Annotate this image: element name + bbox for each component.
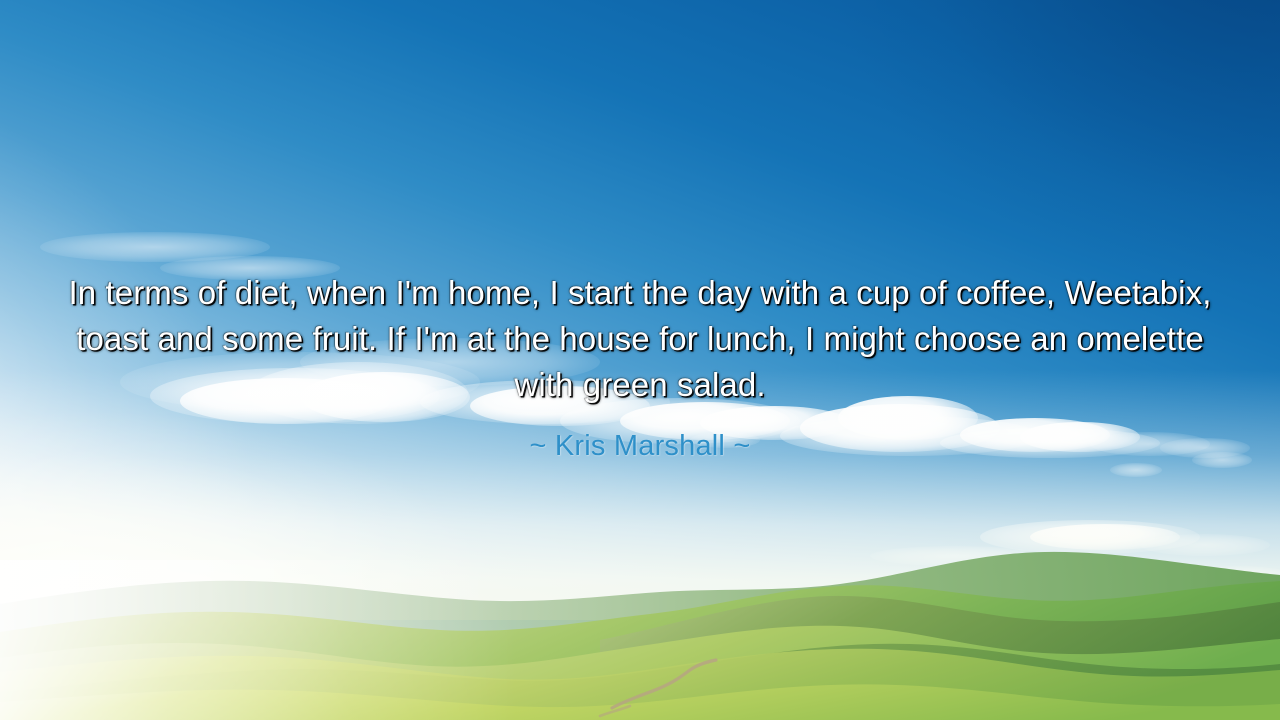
quote-author: ~ Kris Marshall ~ bbox=[60, 426, 1220, 466]
quote-image-canvas: In terms of diet, when I'm home, I start… bbox=[0, 0, 1280, 720]
quote-block: In terms of diet, when I'm home, I start… bbox=[0, 270, 1280, 466]
quote-text: In terms of diet, when I'm home, I start… bbox=[60, 270, 1220, 408]
hill-haze-left bbox=[0, 560, 760, 720]
